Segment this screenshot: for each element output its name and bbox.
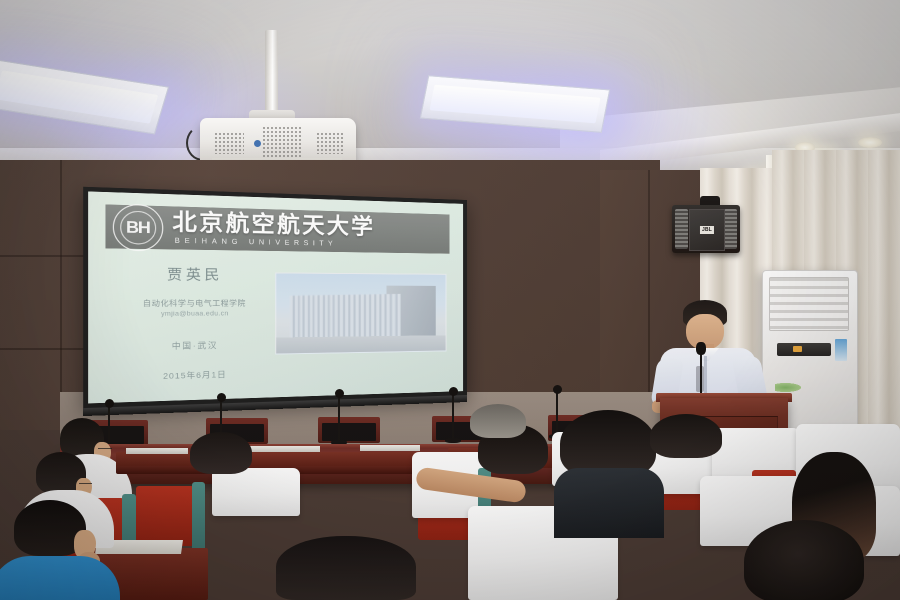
desk-paper bbox=[126, 448, 188, 454]
audience-member bbox=[470, 404, 530, 448]
table-microphone bbox=[338, 396, 340, 444]
downlight-icon bbox=[858, 137, 882, 148]
audience-member bbox=[650, 414, 728, 468]
university-logo-mark: BH bbox=[126, 218, 150, 237]
building-facade-icon bbox=[290, 294, 401, 339]
slide-campus-photo bbox=[275, 273, 447, 356]
wall-speaker: JBL bbox=[672, 205, 740, 253]
wall-seam bbox=[60, 160, 62, 430]
projector-indicator-icon bbox=[254, 140, 261, 147]
building-foreground bbox=[276, 336, 446, 354]
eyeglasses-icon bbox=[79, 483, 92, 489]
projector-mount-pole bbox=[265, 30, 278, 116]
audience-hair-curly bbox=[744, 520, 864, 600]
table-microphone bbox=[452, 394, 454, 442]
ac-brand-decal-icon bbox=[775, 383, 801, 392]
slide-email: ymjia@buaa.edu.cn bbox=[113, 311, 274, 318]
lecture-hall-photo: JBL BH 北京航空航天大学 BEIHANG UNIVERSITY 贾英 bbox=[0, 0, 900, 600]
ac-vent-louvers-icon bbox=[769, 277, 849, 331]
audience-hair bbox=[276, 536, 416, 600]
audience-member bbox=[744, 520, 874, 600]
desk-paper bbox=[250, 446, 320, 452]
ac-display-panel bbox=[777, 343, 831, 356]
slide-date: 2015年6月1日 bbox=[113, 367, 274, 383]
audience-member bbox=[190, 432, 260, 492]
slide-speaker-name: 贾英民 bbox=[113, 262, 274, 284]
audience-jacket bbox=[554, 468, 664, 538]
projector-vent-icon bbox=[262, 126, 302, 158]
slide-text-column: 贾英民 自动化科学与电气工程学院 ymjia@buaa.edu.cn 中国·武汉… bbox=[113, 257, 274, 383]
projector-vent-icon bbox=[316, 132, 344, 154]
projector-vent-icon bbox=[214, 132, 244, 154]
ac-energy-label bbox=[835, 339, 847, 361]
desk-paper bbox=[360, 445, 420, 451]
microphone-base bbox=[445, 438, 461, 443]
audience-seat bbox=[136, 486, 194, 546]
audience-member bbox=[276, 536, 426, 600]
fluorescent-tube-icon bbox=[430, 84, 601, 123]
speaker-brand-badge: JBL bbox=[700, 226, 714, 234]
speaker-side-fin-icon bbox=[675, 209, 688, 249]
slide-location: 中国·武汉 bbox=[113, 339, 274, 354]
ac-power-led-icon bbox=[793, 346, 802, 352]
speaker-side-fin-icon bbox=[724, 209, 737, 249]
university-name-en: BEIHANG UNIVERSITY bbox=[175, 238, 375, 249]
slide-affiliation: 自动化科学与电气工程学院 bbox=[113, 298, 274, 309]
university-logo-icon: BH bbox=[112, 203, 163, 251]
projection-screen: BH 北京航空航天大学 BEIHANG UNIVERSITY 贾英民 自动化科学… bbox=[83, 187, 467, 410]
lectern-microphone bbox=[700, 352, 702, 396]
audience-member bbox=[560, 410, 660, 520]
audience-hair bbox=[190, 432, 252, 474]
audience-member bbox=[0, 500, 130, 600]
head-table-chair bbox=[318, 417, 380, 443]
slide-header-banner: BH 北京航空航天大学 BEIHANG UNIVERSITY bbox=[105, 205, 450, 255]
slide-body: 贾英民 自动化科学与电气工程学院 ymjia@buaa.edu.cn 中国·武汉… bbox=[105, 257, 450, 394]
slide-surface: BH 北京航空航天大学 BEIHANG UNIVERSITY 贾英民 自动化科学… bbox=[88, 191, 463, 403]
audience-shirt-blue bbox=[0, 556, 120, 600]
speaker-grille-icon: JBL bbox=[689, 209, 725, 251]
audience-hair bbox=[650, 414, 722, 458]
audience-hair-gray bbox=[470, 404, 526, 438]
university-name-cn: 北京航空航天大学 bbox=[172, 211, 375, 238]
